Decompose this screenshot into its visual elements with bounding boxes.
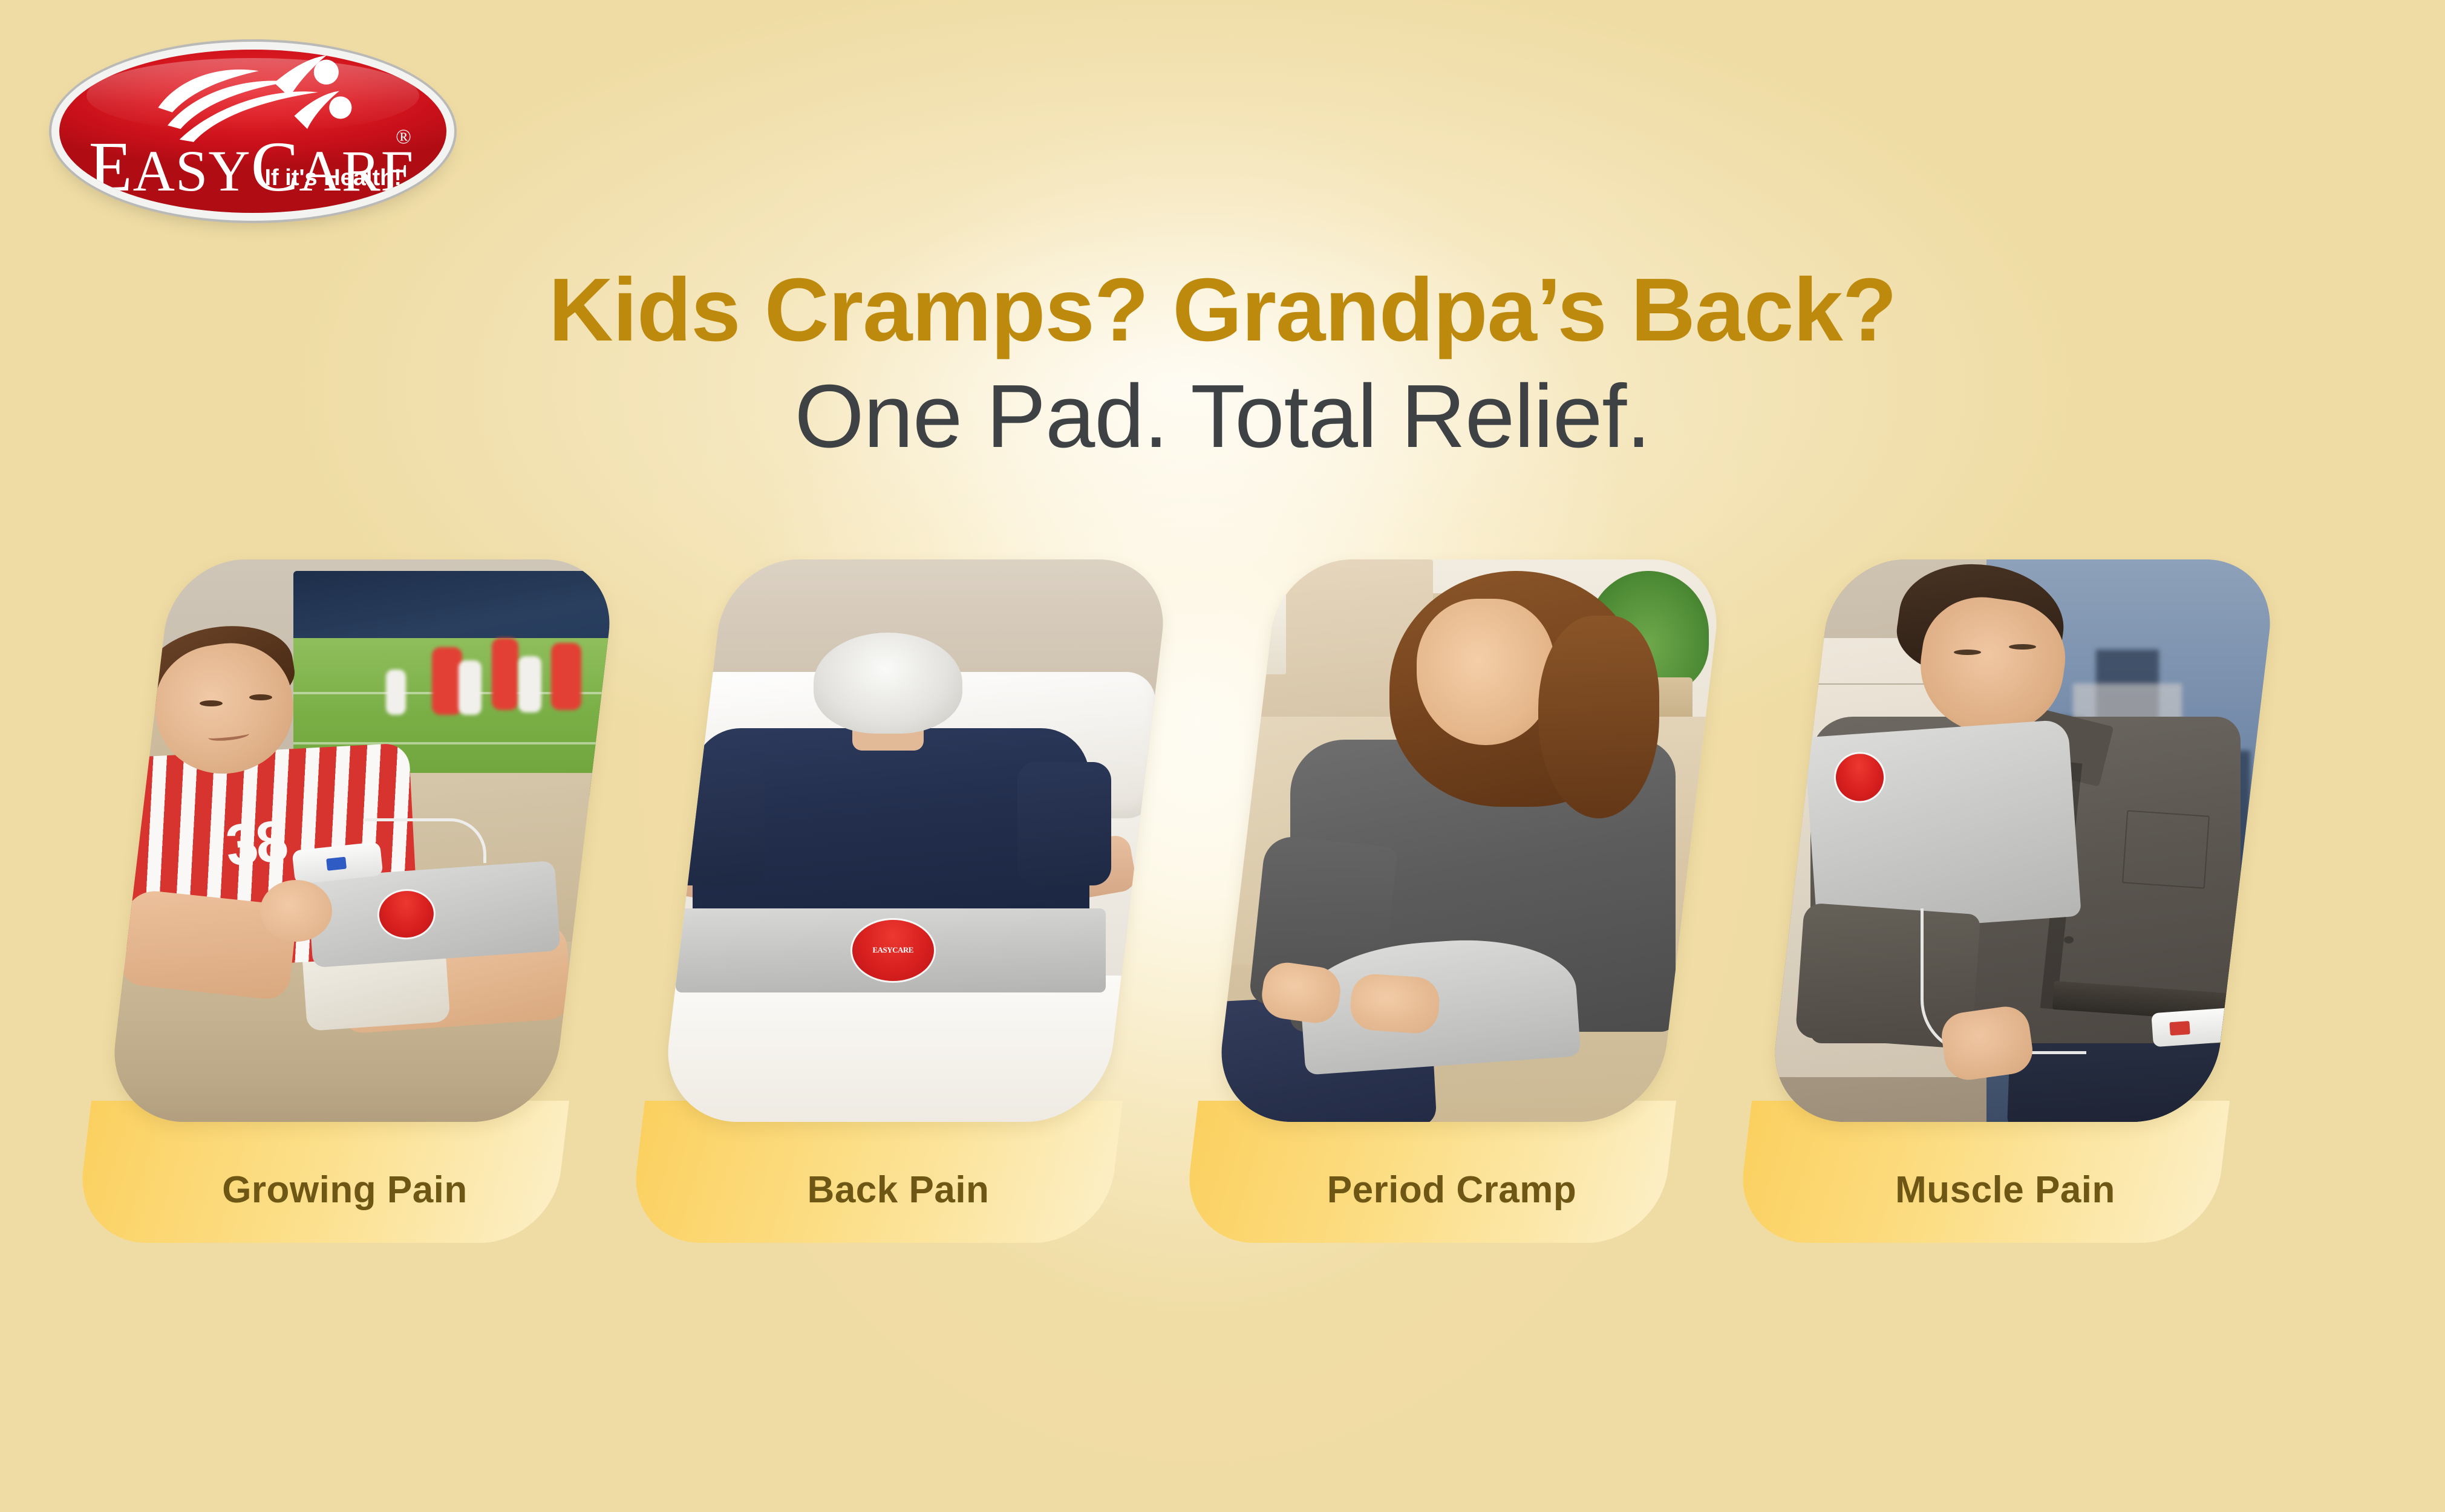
pad-easycare-badge: [377, 888, 435, 939]
pad-controller: [2151, 1006, 2264, 1047]
use-case-card-row: 38 Growing Pain: [0, 559, 2445, 1243]
use-case-card-growing-pain[interactable]: 38 Growing Pain: [106, 559, 584, 1243]
use-case-card-back-pain[interactable]: EASYCARE Back Pain: [659, 559, 1137, 1243]
card-photo-period-cramp: [1213, 559, 1725, 1122]
pad-easycare-badge: [1834, 752, 1885, 802]
shoulder-heating-wrap: [1803, 719, 2081, 934]
pad-easycare-badge: EASYCARE: [852, 920, 933, 980]
card-label-growing-pain: Growing Pain: [106, 1168, 584, 1211]
easycare-logo: EASYCARE ® If it's Health!: [59, 50, 446, 213]
logo-tagline: If it's Health!: [265, 165, 402, 191]
headline-block: Kids Cramps? Grandpa’s Back? One Pad. To…: [0, 260, 2445, 469]
logo-text-asy: ASY: [133, 138, 251, 203]
card-photo-muscle-pain: [1766, 559, 2278, 1122]
headline-line-1: Kids Cramps? Grandpa’s Back?: [0, 260, 2445, 360]
logo-oval-badge: EASYCARE ® If it's Health!: [59, 50, 446, 213]
registered-trademark-icon: ®: [396, 126, 411, 149]
use-case-card-period-cramp[interactable]: Period Cramp: [1213, 559, 1691, 1243]
scene-boy-on-couch: 38: [106, 559, 613, 1122]
heating-belt: EASYCARE: [676, 908, 1106, 993]
card-label-muscle-pain: Muscle Pain: [1766, 1168, 2244, 1211]
scene-elderly-man-bed: EASYCARE: [659, 559, 1166, 1122]
use-case-card-muscle-pain[interactable]: Muscle Pain: [1766, 559, 2244, 1243]
card-photo-back-pain: EASYCARE: [659, 559, 1171, 1122]
logo-letter-e: E: [89, 127, 133, 206]
scene-man-office-chair: [1766, 559, 2273, 1122]
scene-woman-on-sofa: [1213, 559, 1720, 1122]
card-label-period-cramp: Period Cramp: [1213, 1168, 1691, 1211]
headline-line-2: One Pad. Total Relief.: [0, 364, 2445, 470]
card-photo-growing-pain: 38: [106, 559, 618, 1122]
card-label-back-pain: Back Pain: [659, 1168, 1137, 1211]
